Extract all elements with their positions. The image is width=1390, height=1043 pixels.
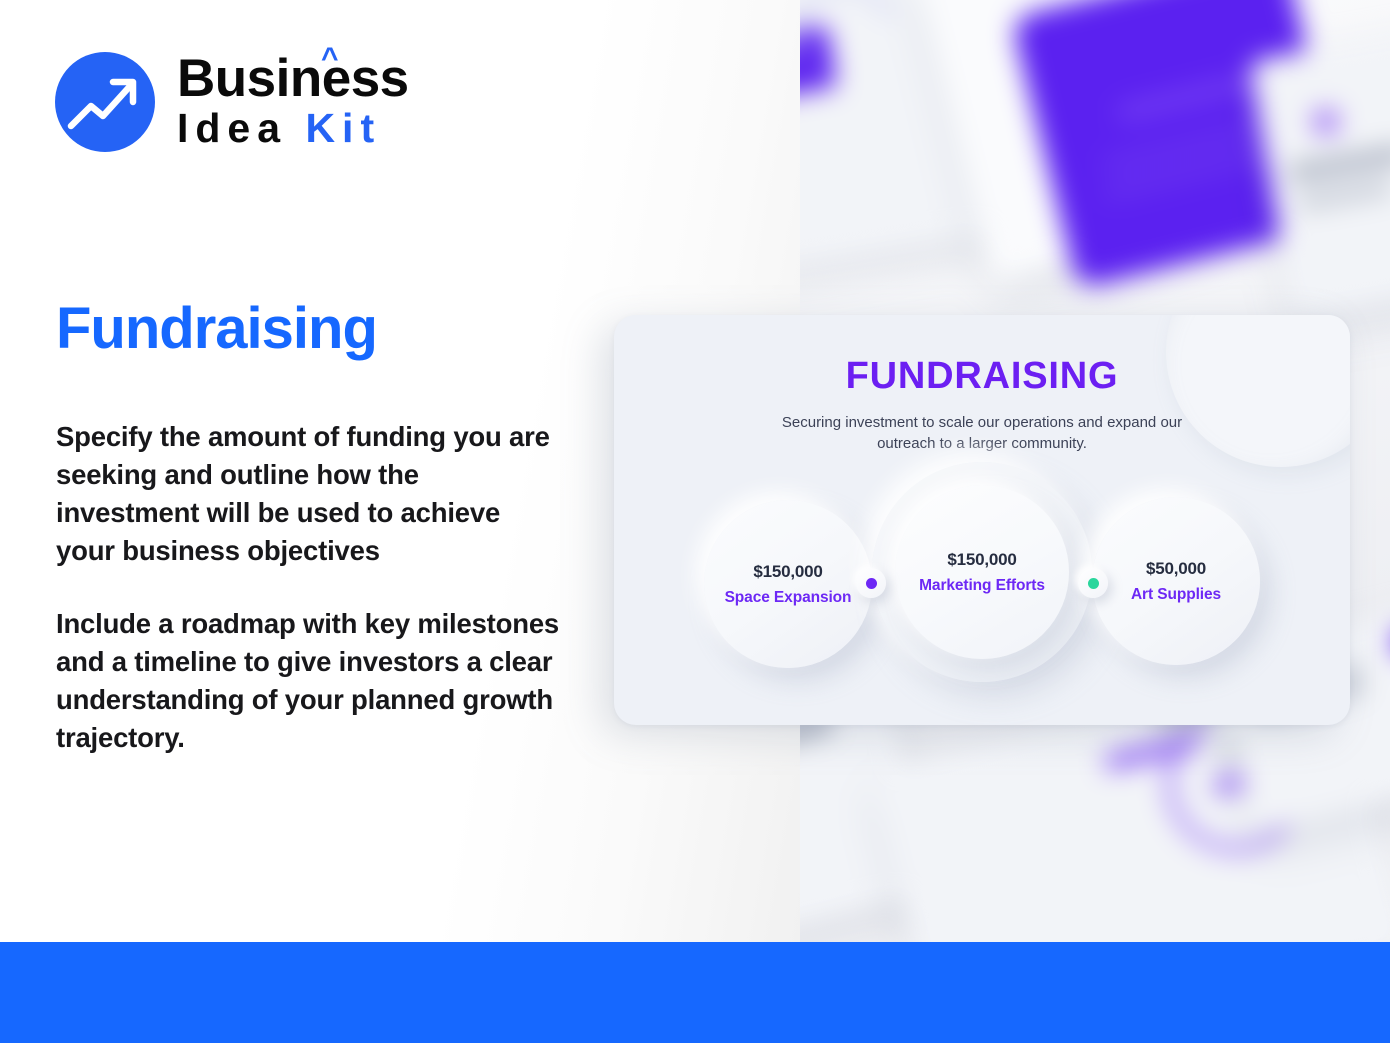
fundraising-card: FUNDRAISING Securing investment to scale… [614,315,1350,725]
funding-circles-cluster: $150,000 Space Expansion $150,000 Market… [614,315,1350,725]
funding-amount: $150,000 [753,562,822,582]
brand-name-kit: Kit [305,105,381,151]
funding-circle-left[interactable]: $150,000 Space Expansion [704,500,872,668]
funding-circle-center[interactable]: $150,000 Marketing Efforts [895,485,1069,659]
brand-name-idea: Idea [177,105,287,151]
connector-node-right [1078,568,1108,598]
funding-label: Art Supplies [1131,586,1221,604]
body-copy: Specify the amount of funding you are se… [56,418,566,757]
brand-logo: Business ^ Idea Kit [55,52,409,152]
brand-wordmark: Business ^ Idea Kit [177,54,409,149]
funding-label: Space Expansion [725,589,852,607]
brand-name-line1-text: Business [177,49,409,108]
bg-slide-right [1249,23,1390,317]
slide-page: FUNDRAISING Securing investment to scale… [0,0,1390,1043]
connector-node-left [856,568,886,598]
caret-accent-icon: ^ [321,45,338,74]
funding-label: Marketing Efforts [919,577,1045,595]
paragraph-2: Include a roadmap with key milestones an… [56,605,566,757]
brand-name-line1: Business ^ [177,54,409,104]
funding-amount: $50,000 [1146,559,1206,579]
paragraph-1: Specify the amount of funding you are se… [56,418,566,570]
footer-bar [0,942,1390,1043]
page-title: Fundraising [56,295,377,362]
funding-amount: $150,000 [947,550,1016,570]
growth-arrow-chart-icon [55,52,155,152]
purple-dot-icon [866,578,877,589]
funding-circle-right[interactable]: $50,000 Art Supplies [1092,497,1260,665]
brand-name-line2: Idea Kit [177,107,409,150]
green-dot-icon [1088,578,1099,589]
